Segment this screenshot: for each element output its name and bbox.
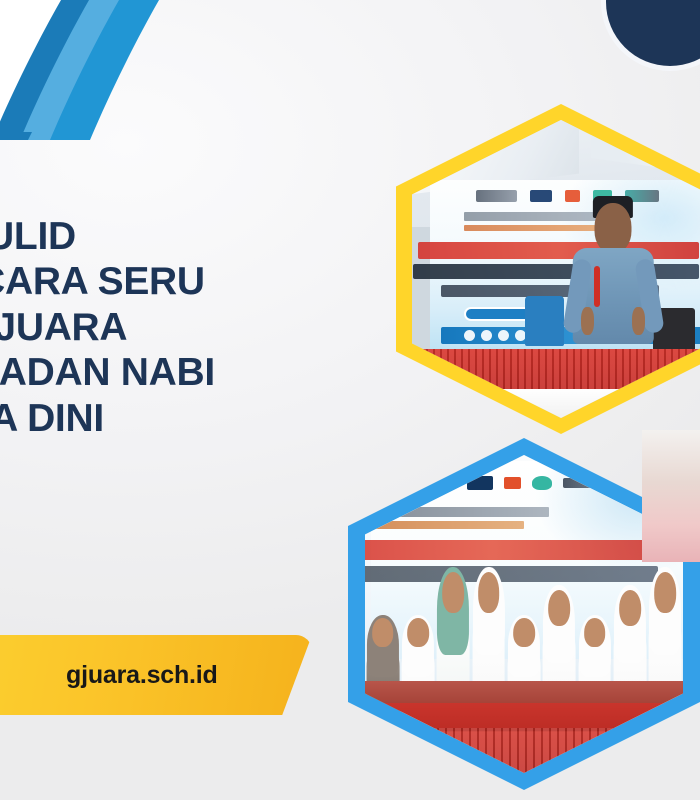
whatsapp-icon — [464, 330, 475, 341]
photo-bottom-children — [365, 455, 683, 773]
photo-top-content — [412, 120, 700, 418]
headline-line-3: NG JUARA — [0, 305, 396, 350]
photo-bottom-logo-row — [422, 475, 606, 491]
photo-frame-top-yellow — [396, 104, 700, 434]
photo-bottom-tagline — [365, 521, 524, 530]
headline-line-4: TELADAN NABI — [0, 350, 396, 395]
photo-top-speaker — [412, 120, 700, 418]
child-head — [442, 572, 464, 613]
logo-qualifa-mark-icon — [532, 476, 552, 490]
child-head — [654, 572, 676, 613]
promo-poster: MAULID A: CARA SERU NG JUARA TELADAN NAB… — [0, 0, 700, 800]
child-head — [478, 572, 500, 613]
headline-line-1: MAULID — [0, 214, 396, 259]
logo-h-icon — [565, 190, 580, 201]
page-title: MAULID A: CARA SERU NG JUARA TELADAN NAB… — [0, 214, 396, 441]
instagram-icon — [498, 330, 509, 341]
facebook-icon — [481, 330, 492, 341]
blue-swoosh-decoration — [0, 0, 182, 132]
logo-sekolah-penggerak-icon — [422, 478, 455, 488]
website-url-text: gjuara.sch.id — [0, 661, 218, 690]
logo-sekolah-penggerak-icon — [476, 190, 517, 201]
photo-bottom-org-line — [365, 507, 549, 517]
headline-line-5: USIA DINI — [0, 396, 396, 441]
photo-top-microphone — [594, 266, 600, 307]
child-head — [619, 590, 641, 626]
photo-bottom-content — [365, 455, 683, 773]
child-head — [584, 618, 606, 647]
photo-top-banner-headline — [418, 242, 698, 259]
photo-bottom-stage-skirt — [365, 703, 683, 773]
child-head — [407, 618, 429, 647]
photo-top-banner-subheadline — [413, 264, 699, 279]
logo-ds-icon — [467, 476, 494, 490]
photo-top-stage-skirt — [412, 349, 700, 418]
photo-bottom-stage-floor — [365, 681, 683, 703]
child-head — [513, 618, 535, 647]
logo-h-icon — [504, 477, 521, 490]
child-figure — [365, 618, 401, 728]
logo-ds-icon — [530, 190, 552, 201]
photo-top-person-head — [595, 203, 632, 253]
photo-sliver-decoration — [642, 430, 700, 562]
website-url-banner[interactable]: gjuara.sch.id — [0, 635, 312, 715]
logo-qualifa-wordmark-icon — [563, 478, 606, 488]
navy-circle-decoration — [606, 0, 700, 66]
photo-top-chair — [525, 296, 564, 347]
photo-top-person-hand-left — [581, 307, 594, 335]
photo-top-person-hand-right — [632, 307, 645, 335]
child-head — [372, 618, 394, 647]
child-head — [548, 590, 570, 626]
headline-line-2: A: CARA SERU — [0, 259, 396, 304]
